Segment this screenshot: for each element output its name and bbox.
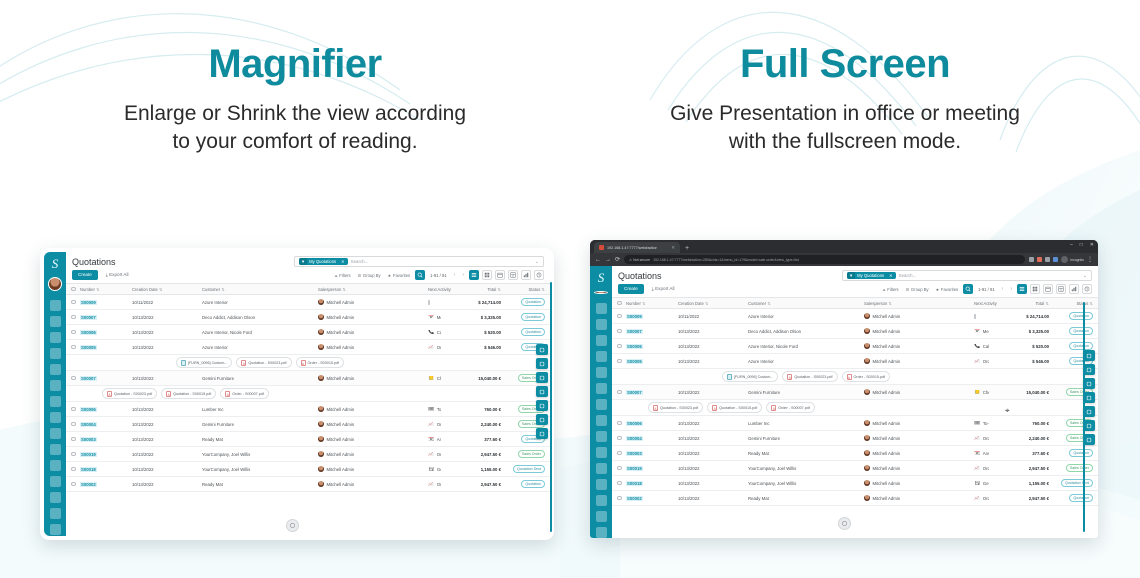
table-row[interactable]: S0001810/13/2022YourCompany, Joel Willis…	[612, 476, 1098, 491]
cell-creation-date: 10/13/2022	[132, 407, 202, 412]
search-input[interactable]: Search...	[351, 259, 369, 264]
feature-column-magnifier: Magnifier Enlarge or Shrink the view acc…	[45, 42, 545, 157]
vertical-scrollbar-tablet[interactable]	[550, 282, 552, 532]
search-bar[interactable]: ▼ My Quotations ✕ Search... ⌄	[842, 270, 1092, 281]
target-icon[interactable]	[50, 364, 61, 375]
cell-creation-date: 10/13/2022	[132, 452, 202, 457]
table-row[interactable]: S0000910/11/2022Azure InteriorMitchell A…	[66, 295, 550, 310]
group-by-button[interactable]: ☰Group By	[356, 272, 383, 279]
minimize-icon[interactable]: –	[1070, 242, 1073, 248]
cell-customer: Gemini Furniture	[202, 422, 318, 427]
attachment-label: Quotation - S00015.pdf	[719, 406, 757, 410]
pdf-file-icon: A	[166, 391, 171, 397]
clipboard-icon[interactable]	[596, 463, 607, 474]
column-header-customer[interactable]: Customer ⇅	[202, 287, 318, 292]
user-icon[interactable]	[596, 479, 607, 490]
cell-next-activity: 📞Call	[428, 330, 441, 335]
scissors-icon[interactable]	[596, 431, 607, 442]
pager-prev-button[interactable]: ‹	[1000, 286, 1006, 292]
table-row[interactable]: S0000610/13/2022Azure Interior, Nicole F…	[612, 339, 1098, 354]
column-header-creation-date[interactable]: Creation Date ⇅	[132, 287, 202, 292]
filter-icon[interactable]	[50, 316, 61, 327]
printer-icon[interactable]	[536, 386, 548, 397]
app-logo-icon: S	[47, 256, 63, 272]
cell-creation-date: 10/11/2022	[132, 300, 202, 305]
attachment-label: Quotation - S00023.pdf	[114, 392, 152, 396]
attachment-chip[interactable]: AOrder - S00007.pdf	[766, 402, 815, 413]
cell-status: Quotation Sent	[501, 465, 545, 473]
table-row[interactable]: S0000310/13/2022Ready MatMitchell Admin📆…	[612, 446, 1098, 461]
column-header-salesperson[interactable]: Salesperson ⇅	[864, 301, 974, 306]
pdf-file-icon: A	[301, 360, 306, 366]
column-header-next-activity[interactable]: Next Activity	[428, 287, 441, 292]
search-dropdown-icon[interactable]: ⌄	[535, 259, 539, 265]
row-checkbox[interactable]	[71, 482, 80, 487]
list-view-icon[interactable]	[469, 270, 479, 280]
attachment-label: Quotation - S00023.pdf	[660, 406, 698, 410]
cell-next-activity: 📈Order Upsell	[428, 452, 441, 457]
table-row[interactable]: S0000510/13/2022Azure InteriorMitchell A…	[66, 340, 550, 355]
people-icon[interactable]	[596, 495, 607, 506]
cell-salesperson: Mitchell Admin	[318, 436, 428, 442]
clipboard-icon[interactable]	[50, 460, 61, 471]
activity-view-icon[interactable]	[534, 270, 544, 280]
star-icon: ★	[936, 287, 940, 292]
create-button[interactable]: Create	[618, 284, 644, 294]
archive-icon[interactable]	[536, 414, 548, 425]
salesperson-avatar	[864, 328, 870, 334]
cell-next-activity: 📈Order Upsell	[428, 345, 441, 350]
window-controls[interactable]: – □ ✕	[1070, 242, 1094, 248]
cell-creation-date: 10/13/2022	[132, 315, 202, 320]
cell-salesperson: Mitchell Admin	[864, 435, 974, 441]
bag-icon[interactable]	[596, 511, 607, 522]
pager-next-button[interactable]: ›	[1008, 286, 1014, 292]
url-text: 192.168.1.47:7777/web#action=280&cids=1&…	[653, 258, 799, 262]
cell-total: 2,240.00 €	[989, 436, 1049, 441]
graph-view-icon[interactable]	[1069, 284, 1079, 294]
row-checkbox[interactable]	[71, 330, 80, 335]
favorites-button[interactable]: ★Favorites	[386, 272, 413, 279]
select-all-checkbox[interactable]	[71, 287, 80, 292]
calendar-view-icon[interactable]	[1043, 284, 1053, 294]
salesperson-avatar	[864, 389, 870, 395]
activity-icon: 📈	[428, 482, 434, 487]
attachment-chip[interactable]: AQuotation - S00023.pdf	[102, 388, 157, 399]
extension-icon-1[interactable]	[1037, 257, 1042, 262]
cell-creation-date: 10/13/2022	[678, 421, 748, 426]
status-badge: Quotation Sent	[513, 465, 545, 473]
filter-icon[interactable]	[596, 319, 607, 330]
status-badge: Quotation	[1069, 327, 1093, 335]
chart-icon[interactable]	[596, 383, 607, 394]
cell-customer: Gemini Furniture	[748, 436, 864, 441]
column-header-number[interactable]: Number ⇅	[80, 287, 132, 292]
create-button[interactable]: Create	[72, 270, 98, 280]
calendar-icon[interactable]	[50, 332, 61, 343]
cell-total: 2,947.50 €	[989, 496, 1049, 501]
search-facet-my-quotations[interactable]: ▼ My Quotations ✕	[299, 258, 348, 265]
float-toolbar-tablet[interactable]	[536, 344, 548, 439]
status-badge: Quotation	[521, 313, 545, 321]
quotations-table-tablet: Number ⇅ Creation Date ⇅ Customer ⇅ Sale…	[66, 284, 550, 536]
table-row[interactable]: S0000410/13/2022Gemini FurnitureMitchell…	[612, 431, 1098, 446]
facet-remove-icon[interactable]: ✕	[887, 272, 896, 279]
zoom-in-icon[interactable]	[536, 358, 548, 369]
row-checkbox[interactable]	[71, 437, 80, 442]
home-icon[interactable]	[50, 300, 61, 311]
attachment-row: [FURN_0096] Custom...AQuotation - S00023…	[66, 355, 550, 371]
grid-icon[interactable]	[50, 412, 61, 423]
address-bar[interactable]: ⚠ Not secure 192.168.1.47:7777/web#actio…	[624, 255, 1025, 264]
cell-total: 2,947.50 €	[989, 466, 1049, 471]
salesperson-avatar	[864, 465, 870, 471]
cell-number: S00009	[80, 300, 132, 305]
attachment-chip[interactable]: AQuotation - S00015.pdf	[707, 402, 762, 413]
activity-icon: 📈	[974, 359, 980, 364]
calendar-icon[interactable]	[596, 335, 607, 346]
row-checkbox[interactable]	[617, 466, 626, 471]
grid-icon[interactable]	[596, 415, 607, 426]
table-row[interactable]: S0001910/13/2022YourCompany, Joel Willis…	[612, 461, 1098, 476]
row-checkbox[interactable]	[617, 421, 626, 426]
magnifier-button[interactable]	[415, 270, 425, 280]
cell-number: S00007	[626, 390, 678, 395]
browser-window-mockup: 192.168.1.47:7777/web#action ✕ + – □ ✕ ←…	[590, 240, 1098, 538]
status-badge: Quotation	[521, 480, 545, 488]
table-row[interactable]: S0000710/13/2022Deco Addict, Addison Ols…	[612, 324, 1098, 339]
cell-total: 377.60 €	[441, 437, 501, 442]
browser-tab-strip: 192.168.1.47:7777/web#action ✕ + – □ ✕	[590, 240, 1098, 253]
attachment-label: Order - S00007.pdf	[232, 392, 264, 396]
cell-number: S00002	[80, 482, 132, 487]
pdf-file-icon: A	[847, 374, 852, 380]
cell-creation-date: 10/13/2022	[132, 330, 202, 335]
bag-icon[interactable]	[50, 508, 61, 519]
cell-next-activity	[428, 300, 441, 305]
activity-icon: 📆	[974, 451, 980, 456]
row-checkbox[interactable]	[617, 481, 626, 486]
select-all-checkbox[interactable]	[617, 301, 626, 306]
export-all-button[interactable]: ⤓ Export All	[648, 284, 679, 294]
activity-view-icon[interactable]	[1082, 284, 1092, 294]
attachment-chip[interactable]: [FURN_0096] Custom...	[722, 371, 778, 382]
cell-next-activity: 📈Order Upsell	[428, 422, 441, 427]
filters-button[interactable]: ⏶Filters	[880, 286, 900, 293]
table-row[interactable]: S0000210/13/2022Ready MatMitchell Admin📈…	[612, 491, 1098, 506]
kanban-view-icon[interactable]	[1030, 284, 1040, 294]
table-row[interactable]: S0000910/11/2022Azure InteriorMitchell A…	[612, 309, 1098, 324]
activity-icon: 🗓	[974, 421, 980, 426]
cell-status: Quotation	[501, 313, 545, 321]
cell-total: 2,240.00 €	[441, 422, 501, 427]
row-checkbox[interactable]	[617, 496, 626, 501]
back-icon[interactable]: ←	[595, 257, 601, 263]
cell-next-activity: 📞Call	[974, 344, 989, 349]
status-badge: Quotation	[1069, 449, 1093, 457]
graph-view-icon[interactable]	[521, 270, 531, 280]
calendar-view-icon[interactable]	[495, 270, 505, 280]
cell-salesperson: Mitchell Admin	[318, 314, 428, 320]
cell-total: 2,947.50 €	[441, 452, 501, 457]
table-row[interactable]: S0000210/13/2022Ready MatMitchell Admin📈…	[66, 477, 550, 492]
kanban-view-icon[interactable]	[482, 270, 492, 280]
maximize-icon[interactable]: □	[1080, 242, 1083, 248]
browser-toolbar: ← → ⟳ ⚠ Not secure 192.168.1.47:7777/web…	[590, 253, 1098, 266]
table-row[interactable]: S0001810/13/2022YourCompany, Joel Willis…	[66, 462, 550, 477]
gear-icon[interactable]	[50, 524, 61, 535]
export-icon[interactable]	[536, 428, 548, 439]
cell-next-activity: 📈Order Upsell	[974, 359, 989, 364]
cell-customer: YourCompany, Joel Willis	[748, 481, 864, 486]
attachment-label: [FURN_0096] Custom...	[188, 361, 227, 365]
floating-action-button-tablet[interactable]	[286, 519, 299, 532]
close-tab-icon[interactable]: ✕	[671, 245, 675, 251]
row-checkbox[interactable]	[71, 376, 80, 381]
cell-creation-date: 10/13/2022	[678, 466, 748, 471]
activity-icon: 📈	[428, 422, 434, 427]
close-window-icon[interactable]: ✕	[1090, 242, 1094, 248]
user-avatar[interactable]	[594, 291, 608, 294]
favorites-button[interactable]: ★Favorites	[934, 286, 961, 293]
browser-extensions[interactable]: Incognito ⋮	[1029, 256, 1093, 263]
target-icon[interactable]	[596, 367, 607, 378]
pager-label: 1-91 / 91	[976, 287, 997, 292]
calendar2-icon[interactable]	[50, 396, 61, 407]
salesperson-avatar	[318, 344, 324, 350]
layers-icon: ☰	[906, 287, 910, 292]
search-facet-my-quotations[interactable]: ▼ My Quotations ✕	[847, 272, 896, 279]
cell-number: S00004	[626, 436, 678, 441]
cell-creation-date: 10/13/2022	[132, 437, 202, 442]
pdf-file-icon: A	[771, 405, 776, 411]
user-avatar[interactable]	[48, 277, 62, 291]
attachment-chip[interactable]: AOrder - S00007.pdf	[220, 388, 269, 399]
feature-column-fullscreen: Full Screen Give Presentation in office …	[595, 42, 1095, 157]
cell-total: $ 3,325.00	[989, 329, 1049, 334]
attachment-chip[interactable]: AOrder - S00015.pdf	[842, 371, 891, 382]
row-checkbox[interactable]	[71, 422, 80, 427]
table-row[interactable]: S0000710/13/2022Gemini FurnitureMitchell…	[66, 371, 550, 386]
box-icon[interactable]	[596, 447, 607, 458]
row-checkbox[interactable]	[71, 452, 80, 457]
gear-icon[interactable]	[596, 527, 607, 538]
settings-icon[interactable]	[536, 344, 548, 355]
cell-salesperson: Mitchell Admin	[318, 406, 428, 412]
row-checkbox[interactable]	[71, 407, 80, 412]
row-checkbox[interactable]	[617, 314, 626, 319]
column-header-status[interactable]: Status ⇅	[1049, 301, 1093, 306]
row-checkbox[interactable]	[617, 359, 626, 364]
favicon-icon	[599, 245, 604, 250]
row-checkbox[interactable]	[71, 300, 80, 305]
image-icon[interactable]	[536, 400, 548, 411]
reload-icon[interactable]: ⟳	[615, 257, 620, 263]
attachment-chip[interactable]: AOrder - S00015.pdf	[296, 357, 345, 368]
column-header-total[interactable]: Total ⇅	[989, 301, 1049, 306]
salesperson-avatar	[318, 299, 324, 305]
table-row[interactable]: S0000610/13/2022Azure Interior, Nicole F…	[66, 325, 550, 340]
pivot-view-icon[interactable]	[1056, 284, 1066, 294]
attachment-chip[interactable]: [FURN_0096] Custom...	[176, 357, 232, 368]
app-sidebar-tablet[interactable]: S	[44, 252, 66, 536]
box-icon[interactable]	[50, 444, 61, 455]
table-row[interactable]: S0000410/13/2022Gemini FurnitureMitchell…	[66, 417, 550, 432]
bookmark-icon[interactable]	[1029, 257, 1034, 262]
pivot-view-icon[interactable]	[508, 270, 518, 280]
browser-menu-icon[interactable]: ⋮	[1087, 257, 1093, 263]
quotations-table-browser: Number ⇅ Creation Date ⇅ Customer ⇅ Sale…	[612, 298, 1098, 538]
forward-icon[interactable]: →	[605, 257, 611, 263]
cell-total: $ 546.00	[441, 345, 501, 350]
scissors-icon[interactable]	[50, 428, 61, 439]
new-tab-button[interactable]: +	[682, 244, 692, 253]
column-header-customer[interactable]: Customer ⇅	[748, 301, 864, 306]
cell-creation-date: 10/13/2022	[678, 359, 748, 364]
magnifier-button[interactable]	[963, 284, 973, 294]
activity-icon: 📈	[974, 466, 980, 471]
search-dropdown-icon[interactable]: ⌄	[1083, 273, 1087, 279]
table-row[interactable]: S0000610/13/2022Lumber IncMitchell Admin…	[612, 416, 1098, 431]
search-input[interactable]: Search...	[899, 273, 917, 278]
salesperson-avatar	[318, 451, 324, 457]
extension-icon-3[interactable]	[1053, 257, 1058, 262]
cell-status: Sales Order	[501, 450, 545, 458]
group-by-button[interactable]: ☰Group By	[904, 286, 931, 293]
odoo-app-browser: S Quotations Create ⤓ Export All	[590, 266, 1098, 538]
activity-icon: 📒	[974, 390, 980, 395]
cell-next-activity: 📅Meeting	[428, 315, 441, 320]
pager-label: 1-91 / 91	[428, 273, 449, 278]
salesperson-avatar	[318, 466, 324, 472]
status-badge: Quotation	[521, 298, 545, 306]
floating-action-button-browser[interactable]	[838, 517, 851, 530]
activity-icon: 📈	[428, 452, 434, 457]
incognito-indicator[interactable]: Incognito	[1061, 256, 1084, 263]
attachment-chip[interactable]: AQuotation - S00023.pdf	[236, 357, 291, 368]
salesperson-avatar	[864, 343, 870, 349]
cell-customer: Azure Interior	[748, 314, 864, 319]
row-checkbox[interactable]	[71, 315, 80, 320]
attachment-chip[interactable]: AQuotation - S00015.pdf	[161, 388, 216, 399]
cell-customer: Gemini Furniture	[202, 376, 318, 381]
cell-salesperson: Mitchell Admin	[318, 344, 428, 350]
filters-button[interactable]: ⏶Filters	[332, 272, 352, 279]
odoo-app-tablet: S Quotations Create ⤓ Export All	[44, 252, 550, 536]
app-sidebar-browser[interactable]: S	[590, 266, 612, 538]
column-header-total[interactable]: Total ⇅	[441, 287, 501, 292]
table-row[interactable]: S0001910/13/2022YourCompany, Joel Willis…	[66, 447, 550, 462]
cell-creation-date: 10/13/2022	[132, 467, 202, 472]
list-view-icon[interactable]	[1017, 284, 1027, 294]
cell-creation-date: 10/13/2022	[678, 390, 748, 395]
calendar2-icon[interactable]	[596, 399, 607, 410]
cell-salesperson: Mitchell Admin	[864, 450, 974, 456]
cell-customer: Azure Interior, Nicole Ford	[748, 344, 864, 349]
cell-next-activity: 🗒Get quote confirmation	[974, 481, 989, 486]
cell-salesperson: Mitchell Admin	[864, 313, 974, 319]
cell-number: S00006	[626, 421, 678, 426]
activity-icon: 🗓	[428, 407, 434, 412]
attachment-label: [FURN_0096] Custom...	[734, 375, 773, 379]
salesperson-avatar	[864, 495, 870, 501]
user-icon[interactable]	[50, 476, 61, 487]
table-body: S0000910/11/2022Azure InteriorMitchell A…	[66, 295, 550, 492]
cell-number: S00005	[80, 345, 132, 350]
row-checkbox[interactable]	[71, 345, 80, 350]
document-icon[interactable]	[596, 351, 607, 362]
search-bar[interactable]: ▼ My Quotations ✕ Search... ⌄	[294, 256, 544, 267]
activity-icon: 📞	[974, 344, 980, 349]
row-checkbox[interactable]	[617, 390, 626, 395]
cell-number: S00003	[80, 437, 132, 442]
cell-number: S00005	[626, 359, 678, 364]
row-checkbox[interactable]	[617, 344, 626, 349]
activity-icon: 📆	[428, 437, 434, 442]
facet-remove-icon[interactable]: ✕	[339, 258, 348, 265]
salesperson-avatar	[864, 420, 870, 426]
column-header-status[interactable]: Status ⇅	[501, 287, 545, 292]
document-icon[interactable]	[50, 348, 61, 359]
row-checkbox[interactable]	[617, 329, 626, 334]
cell-status: Sales Order	[1049, 464, 1093, 472]
cell-salesperson: Mitchell Admin	[864, 480, 974, 486]
feature-description-fullscreen: Give Presentation in office or meeting w…	[595, 100, 1095, 157]
table-row[interactable]: S0000710/13/2022Deco Addict, Addison Ols…	[66, 310, 550, 325]
cell-total: $ 3,325.00	[441, 315, 501, 320]
no-activity-icon	[974, 314, 976, 319]
column-header-next-activity[interactable]: Next Activity	[974, 301, 989, 306]
page-title: Quotations	[618, 271, 679, 281]
table-row[interactable]: S0000610/13/2022Lumber IncMitchell Admin…	[66, 402, 550, 417]
grid-icon[interactable]	[536, 372, 548, 383]
table-row[interactable]: S0000510/13/2022Azure InteriorMitchell A…	[612, 354, 1098, 369]
table-row[interactable]: S0000310/13/2022Ready MatMitchell Admin📆…	[66, 432, 550, 447]
cell-salesperson: Mitchell Admin	[318, 329, 428, 335]
tablet-device-mockup: S Quotations Create ⤓ Export All	[40, 248, 554, 540]
column-header-number[interactable]: Number ⇅	[626, 301, 678, 306]
attachment-label: Order - S00015.pdf	[854, 375, 886, 379]
row-checkbox[interactable]	[617, 436, 626, 441]
extension-icon-2[interactable]	[1045, 257, 1050, 262]
cell-creation-date: 10/13/2022	[132, 345, 202, 350]
column-header-salesperson[interactable]: Salesperson ⇅	[318, 287, 428, 292]
home-icon[interactable]	[596, 303, 607, 314]
no-activity-icon	[428, 300, 430, 305]
vertical-scrollbar-browser[interactable]	[1083, 302, 1085, 532]
cell-number: S00006	[80, 407, 132, 412]
table-row[interactable]: S0000710/13/2022Gemini FurnitureMitchell…	[612, 385, 1098, 400]
attachment-chip[interactable]: AQuotation - S00023.pdf	[648, 402, 703, 413]
image-file-icon	[181, 360, 186, 366]
pager-prev-button[interactable]: ‹	[452, 272, 458, 278]
salesperson-avatar	[864, 435, 870, 441]
cell-customer: YourCompany, Joel Willis	[202, 467, 318, 472]
cell-next-activity: 📈Order Upsell	[974, 466, 989, 471]
cell-next-activity: 📆Answer questions	[974, 451, 989, 456]
chart-icon[interactable]	[50, 380, 61, 391]
row-checkbox[interactable]	[71, 467, 80, 472]
people-icon[interactable]	[50, 492, 61, 503]
pager-next-button[interactable]: ›	[460, 272, 466, 278]
column-header-creation-date[interactable]: Creation Date ⇅	[678, 301, 748, 306]
browser-tab[interactable]: 192.168.1.47:7777/web#action ✕	[594, 242, 680, 253]
table-body: S0000910/11/2022Azure InteriorMitchell A…	[612, 309, 1098, 506]
cell-salesperson: Mitchell Admin	[318, 451, 428, 457]
row-checkbox[interactable]	[617, 451, 626, 456]
attachment-chip[interactable]: AQuotation - S00023.pdf	[782, 371, 837, 382]
export-all-button[interactable]: ⤓ Export All	[102, 270, 133, 280]
